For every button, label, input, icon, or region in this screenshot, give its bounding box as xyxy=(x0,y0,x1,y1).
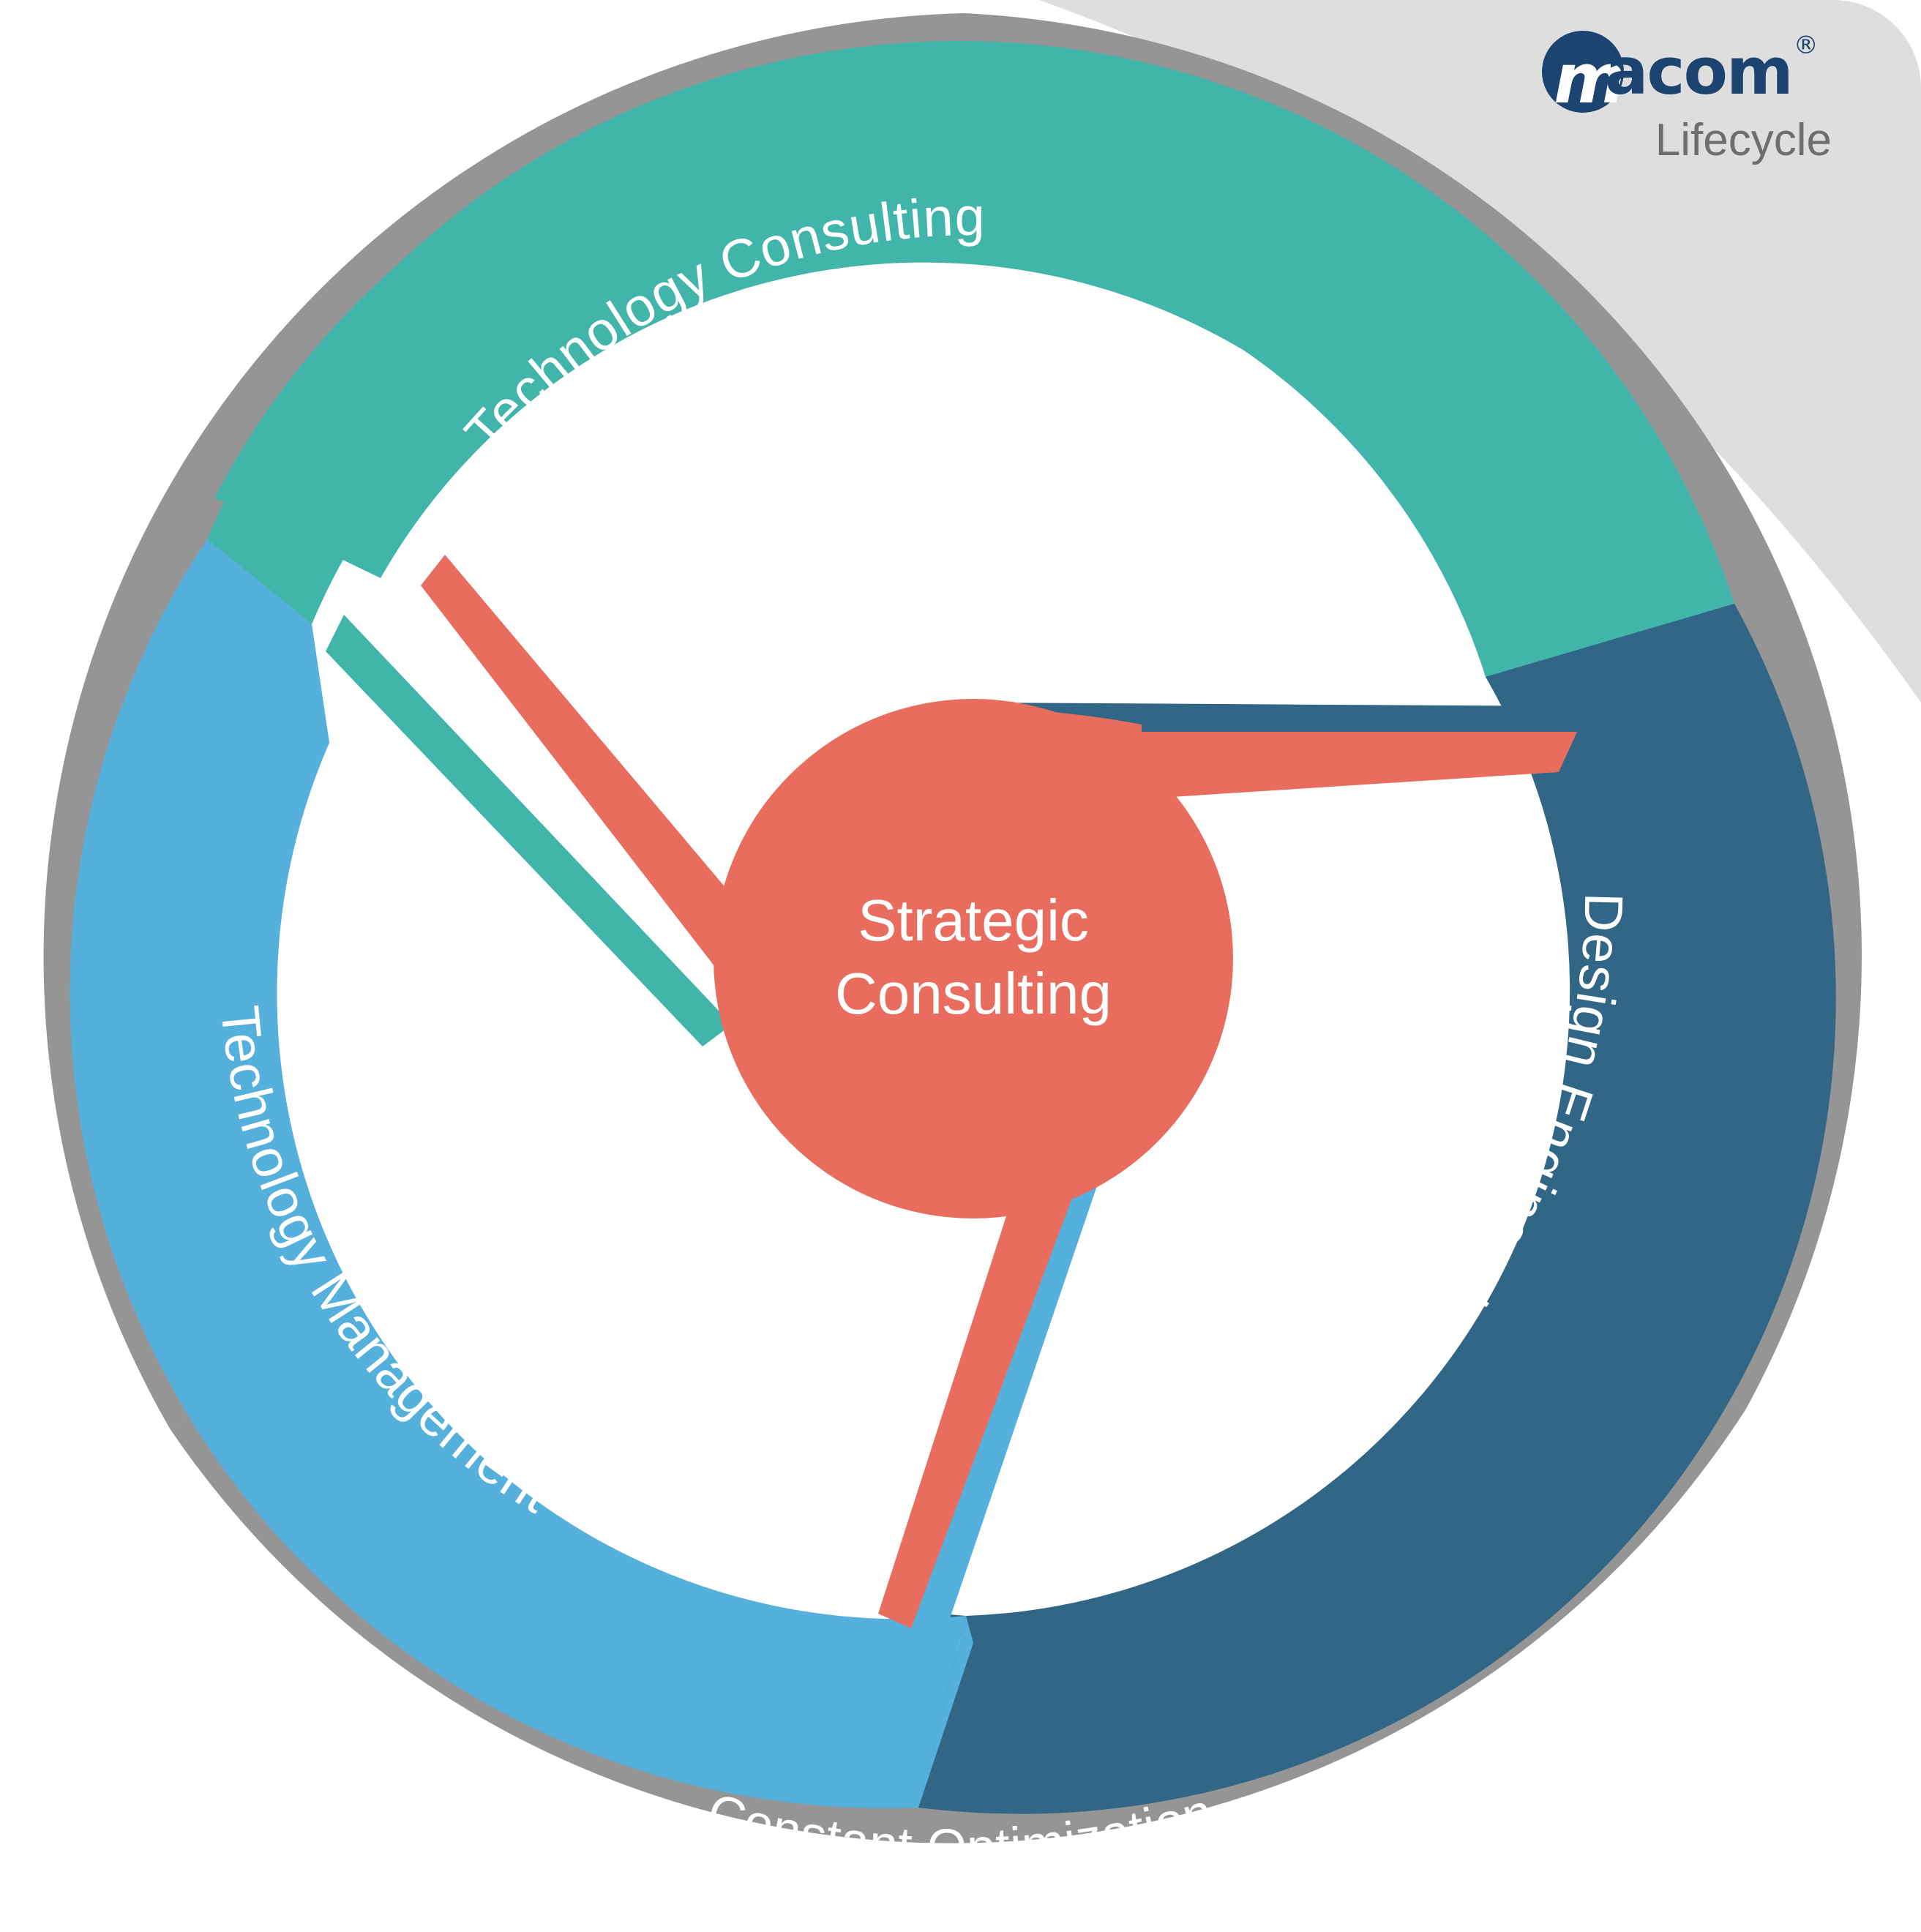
lifecycle-diagram: Constant Optimization Technology Consult… xyxy=(0,0,1921,1932)
logo-wordmark: acom xyxy=(1605,38,1792,105)
brand-logo[interactable]: m acom ® Lifecycle xyxy=(1542,31,1835,170)
center-label-line-1: Strategic xyxy=(858,888,1089,953)
logo-subtitle: Lifecycle xyxy=(1542,114,1835,166)
registered-trademark-icon: ® xyxy=(1794,31,1819,60)
center-label-line-2: Consulting xyxy=(835,961,1112,1026)
diagram-canvas: Constant Optimization Technology Consult… xyxy=(0,0,1921,1932)
logo-row: m acom ® xyxy=(1542,31,1835,113)
